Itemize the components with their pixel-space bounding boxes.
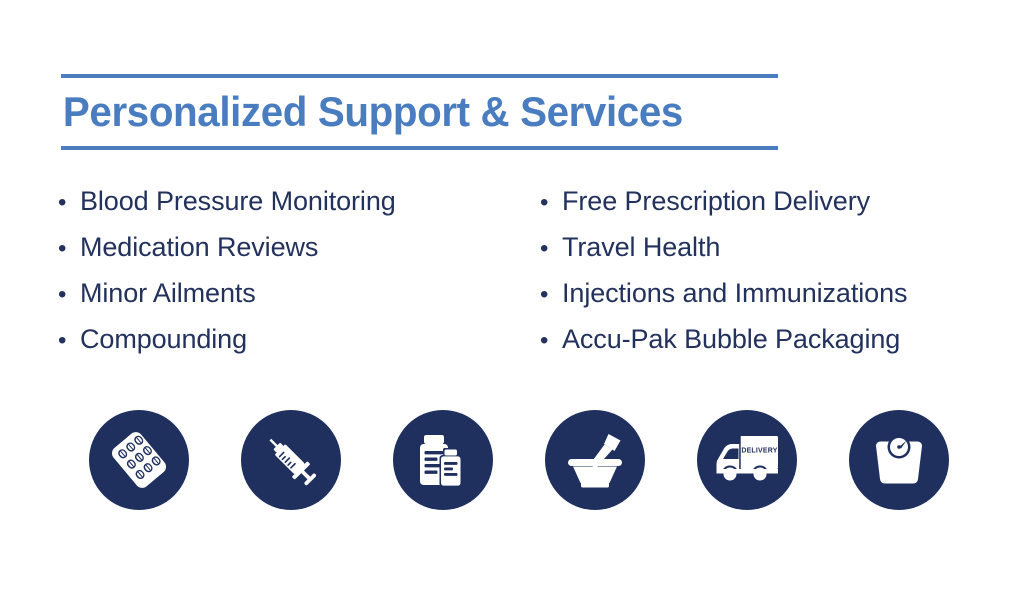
list-item: • Medication Reviews (58, 224, 396, 270)
list-item: • Injections and Immunizations (540, 270, 907, 316)
list-item: • Minor Ailments (58, 270, 396, 316)
bullet-icon: • (58, 318, 80, 364)
delivery-truck-van-text: DELIVERY (741, 448, 777, 455)
icon-badge-row: DELIVERY (0, 410, 1025, 512)
service-label: Medication Reviews (80, 224, 318, 270)
icon-badge-delivery-truck: DELIVERY (697, 410, 797, 510)
icon-badge-blister-pack (89, 410, 189, 510)
services-lists: • Blood Pressure Monitoring • Medication… (0, 178, 1025, 368)
bullet-icon: • (540, 318, 562, 364)
title-rule-bottom (61, 146, 778, 150)
mortar-and-pestle-icon (562, 429, 628, 491)
list-item: • Free Prescription Delivery (540, 178, 907, 224)
page-title: Personalized Support & Services (61, 78, 749, 146)
list-item: • Blood Pressure Monitoring (58, 178, 396, 224)
bullet-icon: • (58, 180, 80, 226)
bullet-icon: • (58, 226, 80, 272)
icon-badge-syringe (241, 410, 341, 510)
list-item: • Accu-Pak Bubble Packaging (540, 316, 907, 362)
service-label: Minor Ailments (80, 270, 256, 316)
header-block: Personalized Support & Services (61, 74, 778, 150)
icon-badge-medicine-bottles (393, 410, 493, 510)
delivery-truck-icon: DELIVERY (712, 431, 782, 489)
icon-badge-weight-scale (849, 410, 949, 510)
blister-pack-icon (106, 427, 172, 493)
service-label: Free Prescription Delivery (562, 178, 870, 224)
syringe-icon (258, 427, 324, 493)
services-column-left: • Blood Pressure Monitoring • Medication… (58, 178, 396, 362)
icon-badge-mortar-pestle (545, 410, 645, 510)
service-label: Blood Pressure Monitoring (80, 178, 396, 224)
bullet-icon: • (540, 272, 562, 318)
list-item: • Travel Health (540, 224, 907, 270)
bullet-icon: • (58, 272, 80, 318)
weight-scale-icon (868, 430, 930, 490)
service-label: Accu-Pak Bubble Packaging (562, 316, 900, 362)
bullet-icon: • (540, 226, 562, 272)
medicine-bottles-icon (412, 429, 474, 491)
service-label: Travel Health (562, 224, 720, 270)
service-label: Compounding (80, 316, 247, 362)
services-column-right: • Free Prescription Delivery • Travel He… (540, 178, 907, 362)
bullet-icon: • (540, 180, 562, 226)
service-label: Injections and Immunizations (562, 270, 907, 316)
list-item: • Compounding (58, 316, 396, 362)
slide-canvas: Personalized Support & Services • Blood … (0, 0, 1025, 590)
